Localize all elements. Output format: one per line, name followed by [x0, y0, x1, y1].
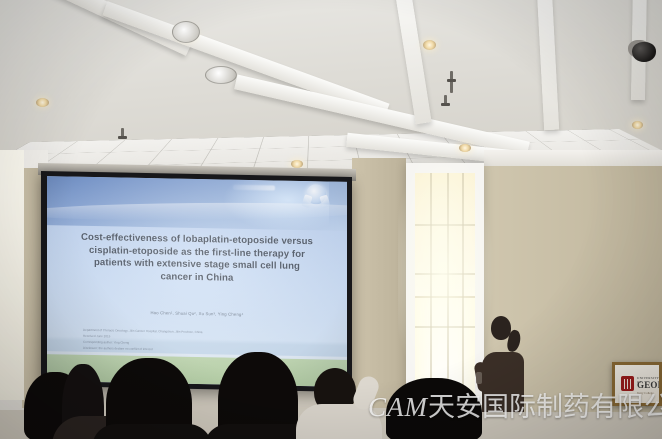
slide-title: Cost-effectiveness of lobaplatin-etoposi… [65, 232, 329, 287]
projection-screen: Cost-effectiveness of lobaplatin-etoposi… [41, 171, 352, 392]
dome-security-camera-icon [632, 42, 656, 62]
window-mullion [430, 173, 432, 405]
presenter-pointer-icon [476, 372, 482, 384]
window-mullion [447, 173, 449, 405]
sprinkler-head [450, 71, 453, 93]
window-mullion [415, 273, 475, 275]
ceiling-beam [392, 0, 431, 124]
slide-author-line: Hao Chen¹, Shuai Qu², Xu Sun³, Ying Chen… [77, 309, 317, 319]
banner-line-3: Terry College [637, 391, 654, 395]
recessed-downlight [632, 121, 643, 129]
presentation-slide: Cost-effectiveness of lobaplatin-etoposi… [47, 176, 347, 387]
wall-center-pilaster [352, 158, 406, 408]
recessed-downlight [291, 160, 303, 168]
presentation-photo-scene: Cost-effectiveness of lobaplatin-etoposi… [0, 0, 662, 439]
window [406, 163, 484, 405]
audience-member [386, 378, 482, 439]
university-seal-icon [621, 376, 634, 391]
conference-emblem-icon [306, 184, 326, 204]
wall-trim-left [0, 150, 24, 400]
window-shade [415, 173, 475, 298]
audience-member-shoulders [296, 404, 382, 439]
window-mullion [415, 326, 475, 328]
window-mullion [462, 173, 464, 405]
conference-tagline [233, 185, 275, 191]
window-mullion [415, 224, 475, 226]
recessed-downlight [459, 144, 471, 152]
slide-affiliations: Department of Thoracic Oncology, Jilin C… [83, 326, 323, 355]
banner-line-2: GEOR [637, 380, 662, 390]
recessed-downlight [36, 98, 49, 107]
podium-banner: UNIVERSITY OF GEOR Terry College [612, 362, 662, 406]
recessed-downlight [423, 40, 436, 50]
audience-member-shoulders [92, 424, 212, 439]
window-glass [415, 173, 475, 405]
ceiling-beam [536, 0, 559, 130]
sprinkler-head [121, 128, 124, 137]
ceiling-vent [172, 21, 200, 43]
ceiling-vent [205, 66, 237, 84]
wall-right-soffit [484, 150, 662, 166]
slide-header-band [47, 176, 347, 231]
sprinkler-head [444, 95, 447, 104]
